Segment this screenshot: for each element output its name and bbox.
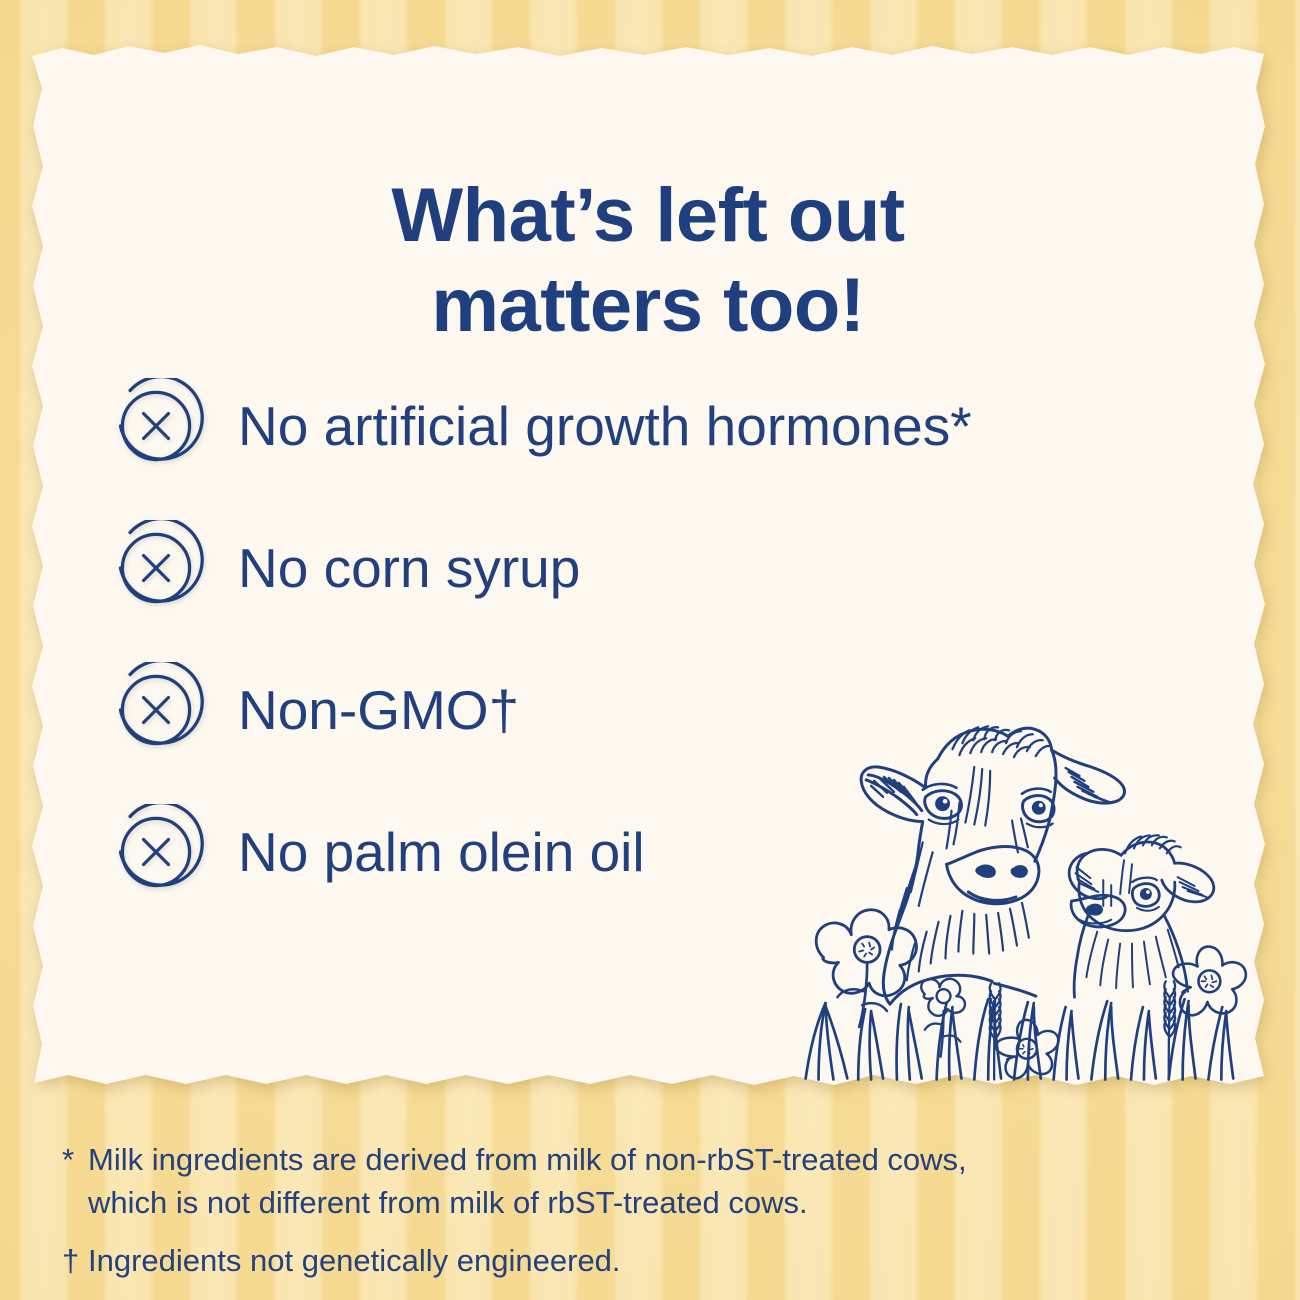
list-item-label: No corn syrup [238,541,580,596]
card-content: What’s left out matters too! No artifici… [24,22,1272,1112]
footnote-text: Ingredients not genetically engineered. [88,1239,1242,1282]
page-title-line-2: matters too! [24,261,1272,351]
list-item: No artificial growth hormones* [108,355,1168,497]
circle-x-icon-glyph [108,662,204,758]
list-item: No corn syrup [108,497,1168,639]
circle-x-icon [108,520,204,616]
footnotes: * Milk ingredients are derived from milk… [62,1138,1242,1296]
list-item-label: No palm olein oil [238,825,645,880]
footnote: * Milk ingredients are derived from milk… [62,1138,1242,1225]
circle-x-icon-glyph [108,804,204,900]
footnote-line-2: which is not different from milk of rbST… [88,1181,1242,1224]
footnote-marker: † [62,1239,88,1282]
circle-x-icon-glyph [108,378,204,474]
torn-paper-card: What’s left out matters too! No artifici… [24,22,1272,1112]
circle-x-icon [108,804,204,900]
cow-and-calf-illustration [764,692,1260,1092]
list-item-label: Non-GMO† [238,683,519,738]
footnote-line-1: Milk ingredients are derived from milk o… [88,1138,1242,1181]
circle-x-icon [108,662,204,758]
footnote-line-1: Ingredients not genetically engineered. [88,1239,1242,1282]
footnote: † Ingredients not genetically engineered… [62,1239,1242,1282]
footnote-marker: * [62,1138,88,1225]
circle-x-icon [108,378,204,474]
page-title: What’s left out matters too! [24,171,1272,350]
page-root: What’s left out matters too! No artifici… [0,0,1300,1300]
cow-and-calf-illustration-glyph [764,692,1260,1092]
list-item-label: No artificial growth hormones* [238,399,972,454]
page-title-line-1: What’s left out [24,171,1272,261]
circle-x-icon-glyph [108,520,204,616]
footnote-text: Milk ingredients are derived from milk o… [88,1138,1242,1225]
